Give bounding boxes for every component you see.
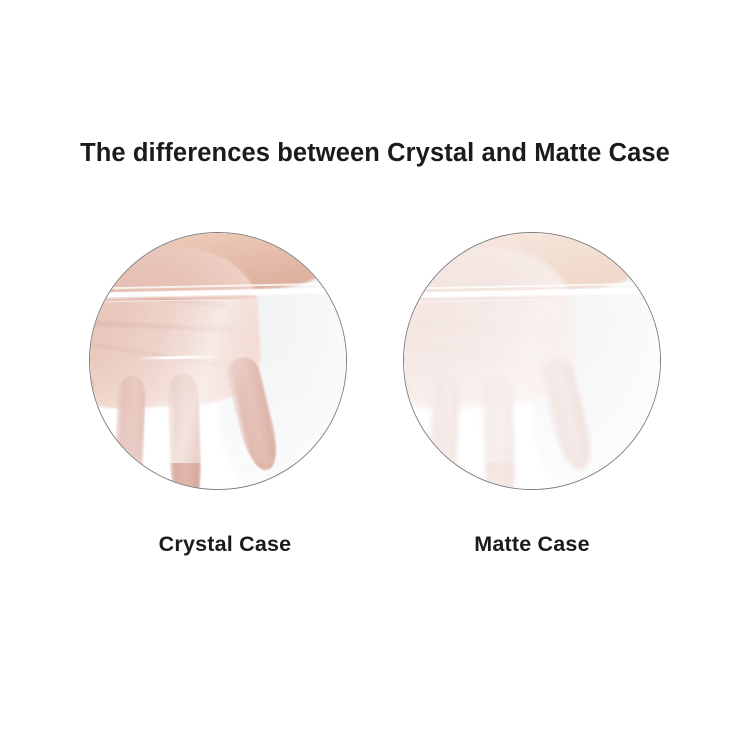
caption-crystal: Crystal Case (96, 532, 354, 557)
sample-circle-crystal (89, 232, 347, 490)
sample-circle-matte (403, 232, 661, 490)
finger-ring (114, 376, 147, 490)
comparison-graphic: The differences between Crystal and Matt… (0, 0, 750, 750)
finger-middle (167, 373, 203, 490)
palm-crease (403, 320, 547, 332)
finger-middle (481, 373, 517, 490)
palm-crease (403, 343, 531, 366)
hand-through-crystal-case-image (90, 233, 346, 489)
palm-crease (89, 320, 233, 332)
palm-crease (89, 343, 217, 366)
page-title: The differences between Crystal and Matt… (0, 138, 750, 168)
hand-through-matte-case-image (404, 233, 660, 489)
finger-ring (428, 376, 461, 490)
sample-panel-matte (403, 232, 661, 490)
caption-matte: Matte Case (403, 532, 661, 557)
sample-panel-crystal (89, 232, 347, 490)
